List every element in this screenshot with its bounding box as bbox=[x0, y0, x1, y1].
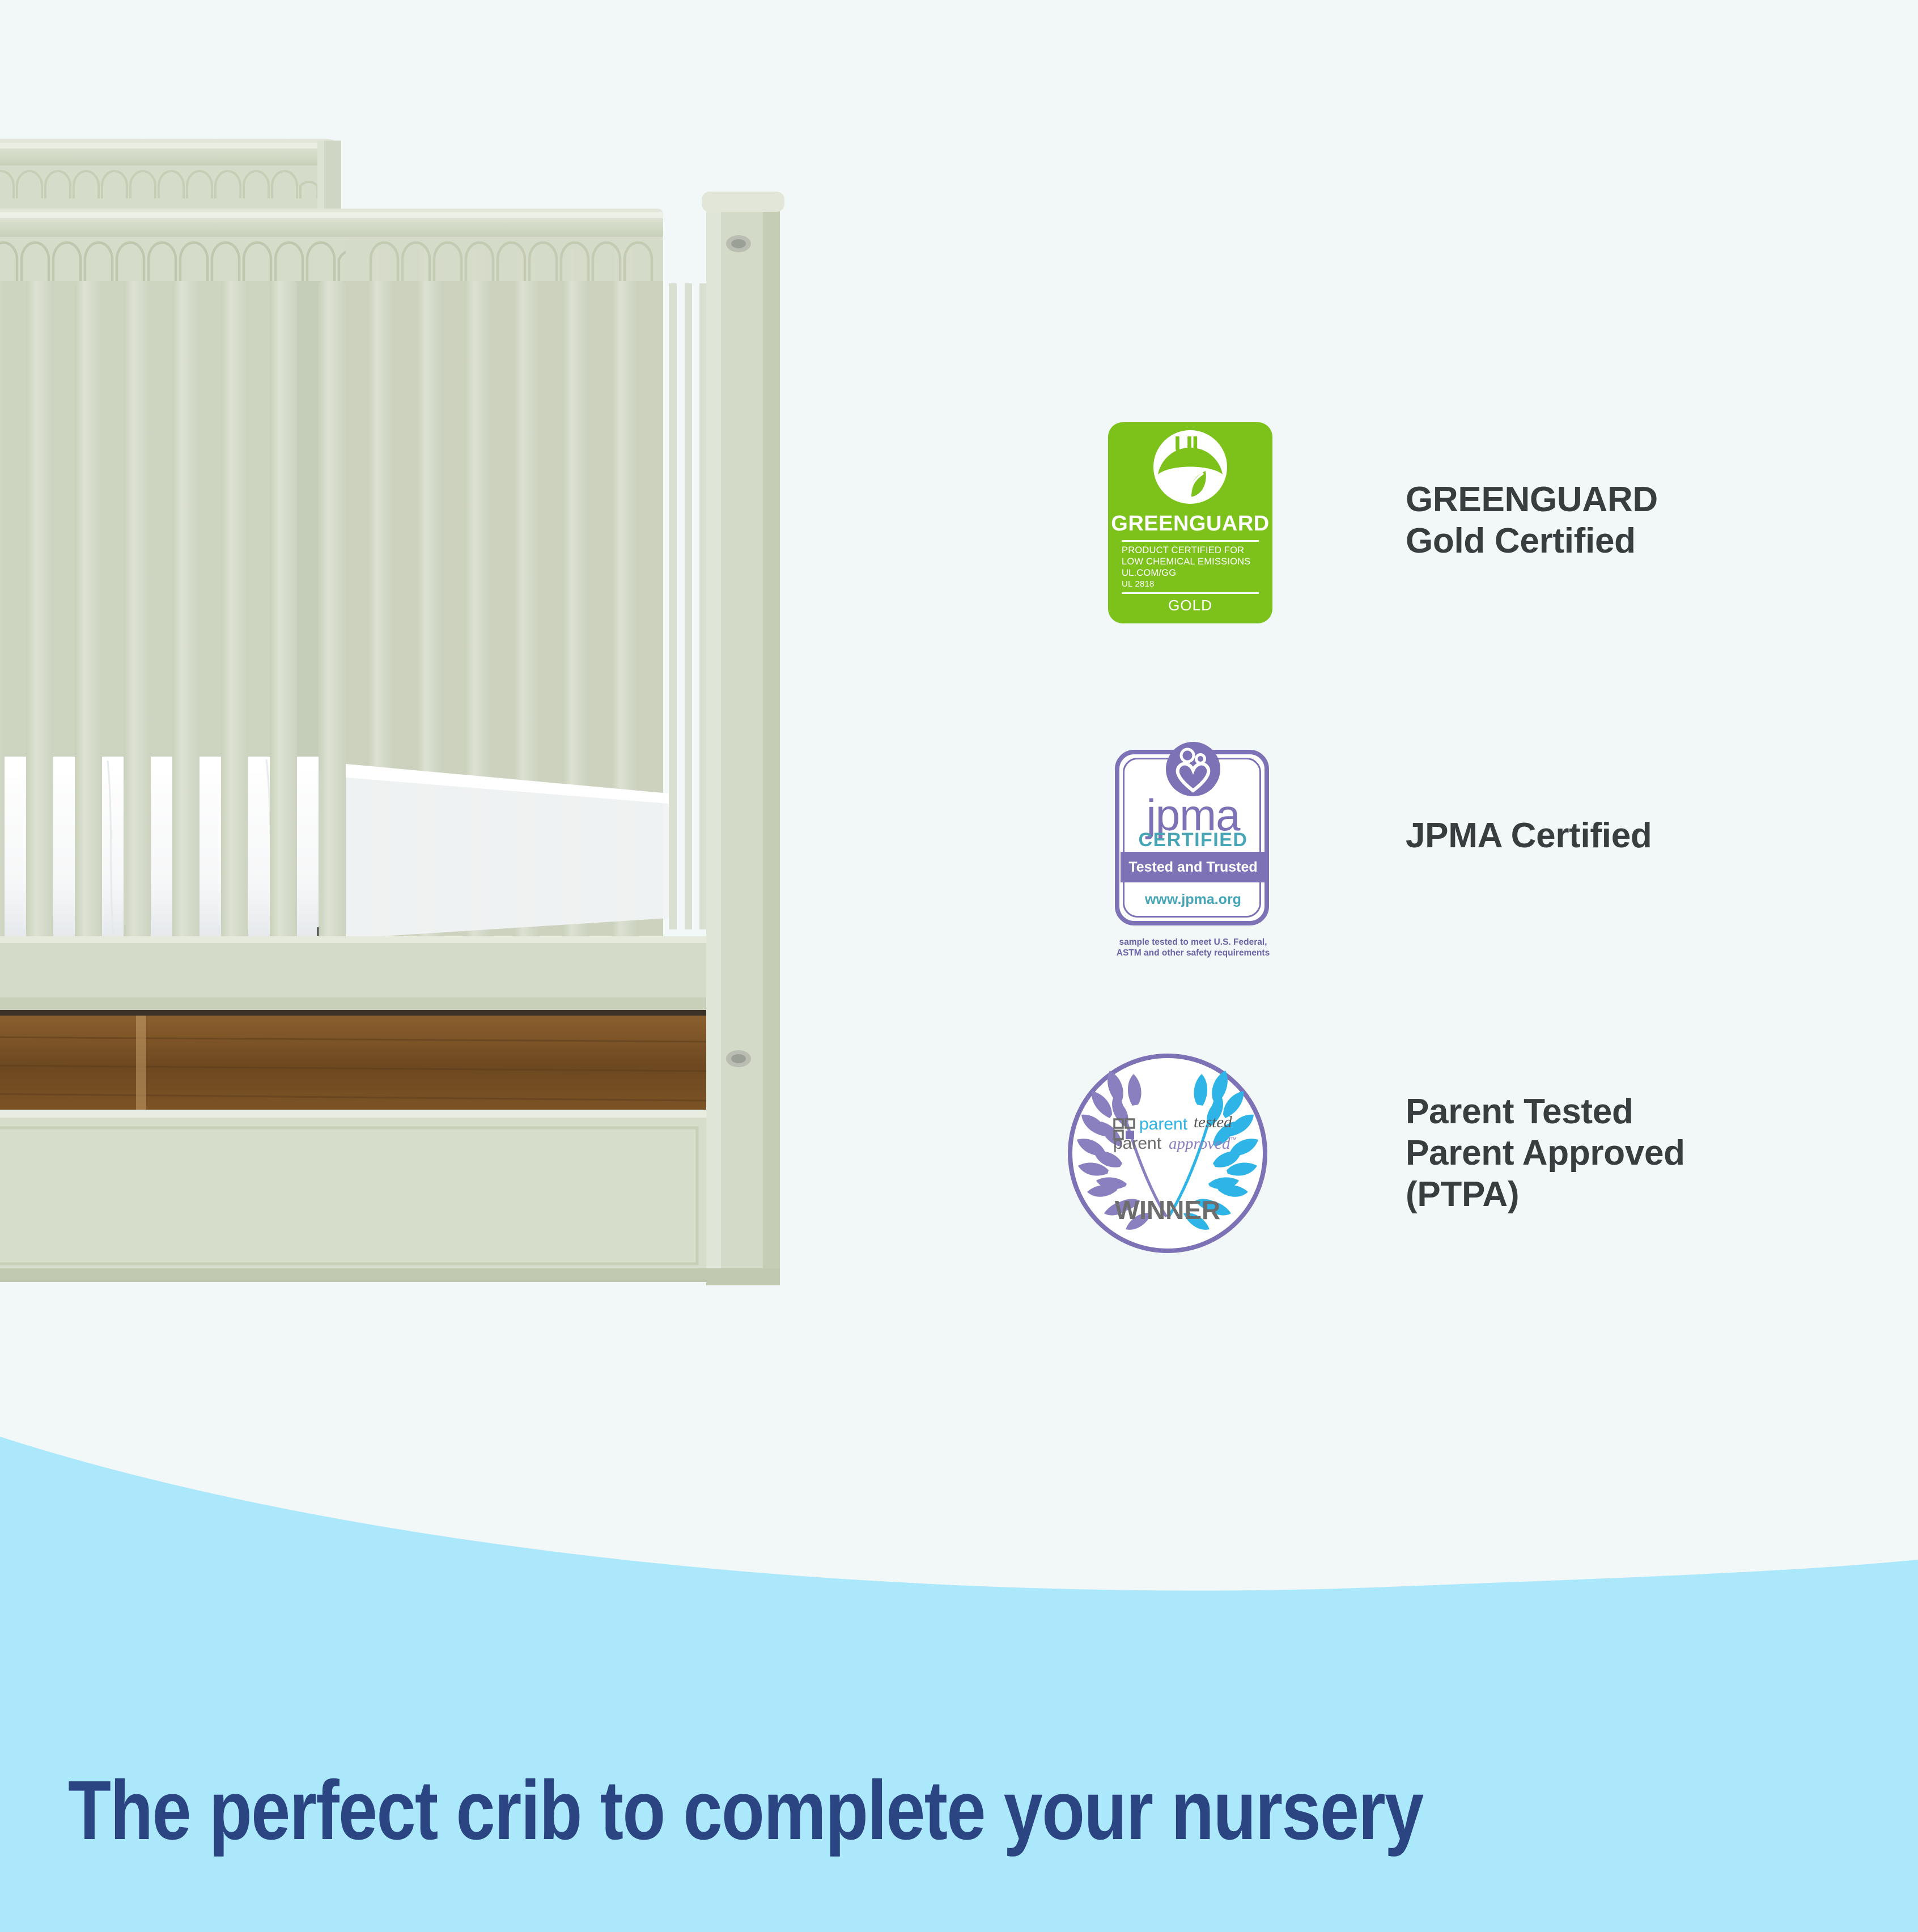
jpma-family-heart-icon bbox=[1166, 742, 1220, 796]
marketing-image: UL GREENGUARD PRODUCT CERTIFIED FOR LOW … bbox=[0, 0, 1918, 1932]
ptpa-parent-2: parent bbox=[1113, 1134, 1162, 1153]
ptpa-trademark: ™ bbox=[1230, 1136, 1237, 1144]
divider bbox=[1122, 592, 1259, 594]
certification-row-jpma: jpma CERTIFIED Tested and Trusted www.jp… bbox=[1108, 728, 1278, 966]
certification-label-greenguard: GREENGUARD Gold Certified bbox=[1406, 479, 1658, 562]
ptpa-award-text: WINNER bbox=[1115, 1195, 1221, 1225]
certification-row-greenguard: UL GREENGUARD PRODUCT CERTIFIED FOR LOW … bbox=[1108, 422, 1272, 623]
jpma-tagline-band: Tested and Trusted bbox=[1121, 852, 1266, 882]
jpma-badge: jpma CERTIFIED Tested and Trusted www.jp… bbox=[1108, 728, 1278, 966]
jpma-fineprint: sample tested to meet U.S. Federal, ASTM… bbox=[1108, 937, 1278, 959]
crib-front-rail bbox=[0, 209, 719, 1282]
page-headline: The perfect crib to complete your nurser… bbox=[68, 1763, 1544, 1859]
crib-corner-post bbox=[702, 192, 784, 1285]
ptpa-tested: tested bbox=[1194, 1113, 1232, 1131]
ptpa-badge: parent tested parent approved ™ WINNER bbox=[1066, 1051, 1270, 1255]
ul-mark-text: UL bbox=[1108, 430, 1272, 461]
ptpa-approved: approved bbox=[1169, 1135, 1230, 1153]
greenguard-badge: UL GREENGUARD PRODUCT CERTIFIED FOR LOW … bbox=[1108, 422, 1272, 623]
greenguard-title: GREENGUARD bbox=[1108, 512, 1272, 536]
crib-slats bbox=[0, 281, 346, 940]
certification-label-ptpa: Parent Tested Parent Approved (PTPA) bbox=[1406, 1091, 1685, 1215]
ptpa-seal: parent tested parent approved ™ WINNER bbox=[1066, 1051, 1270, 1255]
certification-label-jpma: JPMA Certified bbox=[1406, 815, 1652, 856]
jpma-url[interactable]: www.jpma.org bbox=[1108, 891, 1278, 908]
headline-container: The perfect crib to complete your nurser… bbox=[68, 1763, 1825, 1859]
greenguard-tier: GOLD bbox=[1108, 597, 1272, 614]
greenguard-standard: UL 2818 bbox=[1122, 579, 1263, 589]
divider bbox=[1122, 540, 1259, 542]
jpma-certified-text: CERTIFIED bbox=[1108, 829, 1278, 851]
crib-product-photo bbox=[0, 0, 862, 1360]
ptpa-parent-1: parent bbox=[1139, 1115, 1188, 1133]
certification-row-ptpa: parent tested parent approved ™ WINNER bbox=[1066, 1051, 1270, 1255]
greenguard-fineprint: PRODUCT CERTIFIED FOR LOW CHEMICAL EMISS… bbox=[1122, 545, 1263, 579]
